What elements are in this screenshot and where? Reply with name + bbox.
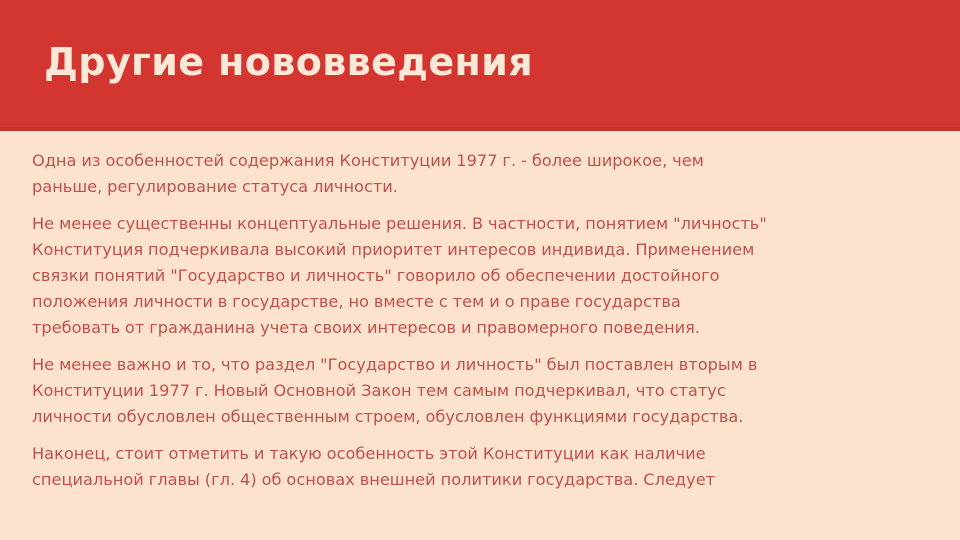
presentation-slide: Другие нововведения Одна из особенностей… [0, 0, 960, 540]
body-paragraph: Не менее существенны концептуальные реше… [32, 211, 772, 341]
body-paragraph: Одна из особенностей содержания Конститу… [32, 148, 772, 200]
banner-bottom-edge [0, 127, 960, 131]
title-banner: Другие нововведения [0, 0, 960, 131]
slide-body: Одна из особенностей содержания Конститу… [32, 148, 772, 493]
body-paragraph: Наконец, стоит отметить и такую особенно… [32, 441, 772, 493]
page-title: Другие нововведения [44, 38, 533, 86]
body-paragraph: Не менее важно и то, что раздел "Государ… [32, 352, 772, 430]
